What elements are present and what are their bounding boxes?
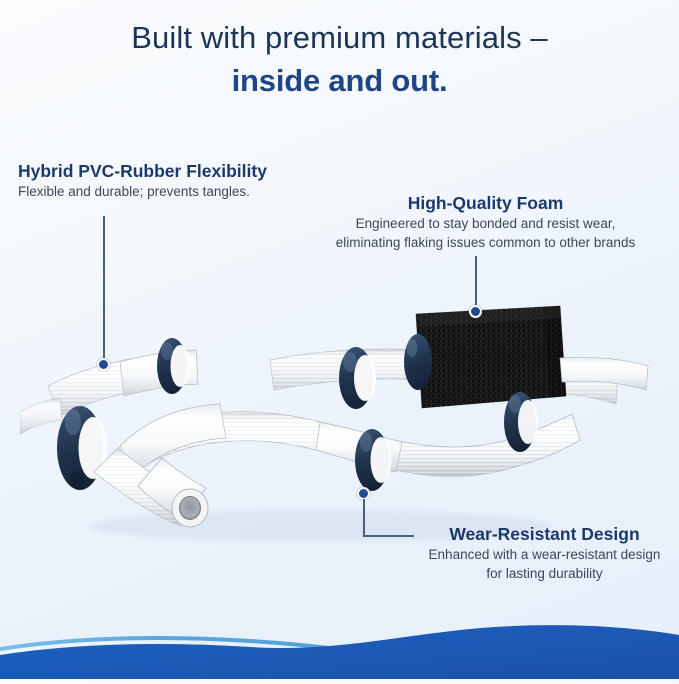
- callout-body-flexibility-line-1: Flexible and durable; prevents tangles.: [18, 182, 267, 201]
- page-title: Built with premium materials – inside an…: [0, 16, 679, 102]
- callout-body-wear-line-2: for lasting durability: [410, 564, 679, 583]
- callout-body-foam-line-2: eliminating flaking issues common to oth…: [292, 233, 679, 252]
- leader-line-wear-horizontal: [363, 535, 414, 537]
- marker-dot-foam: [469, 305, 482, 318]
- headline-line-2: inside and out.: [0, 60, 679, 102]
- headline-line-1: Built with premium materials –: [0, 16, 679, 60]
- callout-high-quality-foam: High-Quality Foam Engineered to stay bon…: [292, 192, 679, 252]
- infographic-canvas: Built with premium materials – inside an…: [0, 0, 679, 679]
- callout-title-flexibility: Hybrid PVC-Rubber Flexibility: [18, 160, 267, 182]
- leader-line-flexibility: [103, 216, 105, 364]
- leader-line-wear-vertical: [363, 499, 365, 536]
- leader-line-foam: [475, 256, 477, 312]
- callout-title-foam: High-Quality Foam: [292, 192, 679, 214]
- callout-body-wear-line-1: Enhanced with a wear-resistant design: [410, 545, 679, 564]
- footer-wave-decoration: [0, 589, 679, 679]
- callout-title-wear: Wear-Resistant Design: [410, 523, 679, 545]
- callout-wear-resistant-design: Wear-Resistant Design Enhanced with a we…: [410, 523, 679, 583]
- product-image: [20, 300, 660, 560]
- marker-dot-flexibility: [97, 358, 110, 371]
- callout-hybrid-pvc-rubber-flexibility: Hybrid PVC-Rubber Flexibility Flexible a…: [18, 160, 267, 201]
- callout-body-foam-line-1: Engineered to stay bonded and resist wea…: [292, 214, 679, 233]
